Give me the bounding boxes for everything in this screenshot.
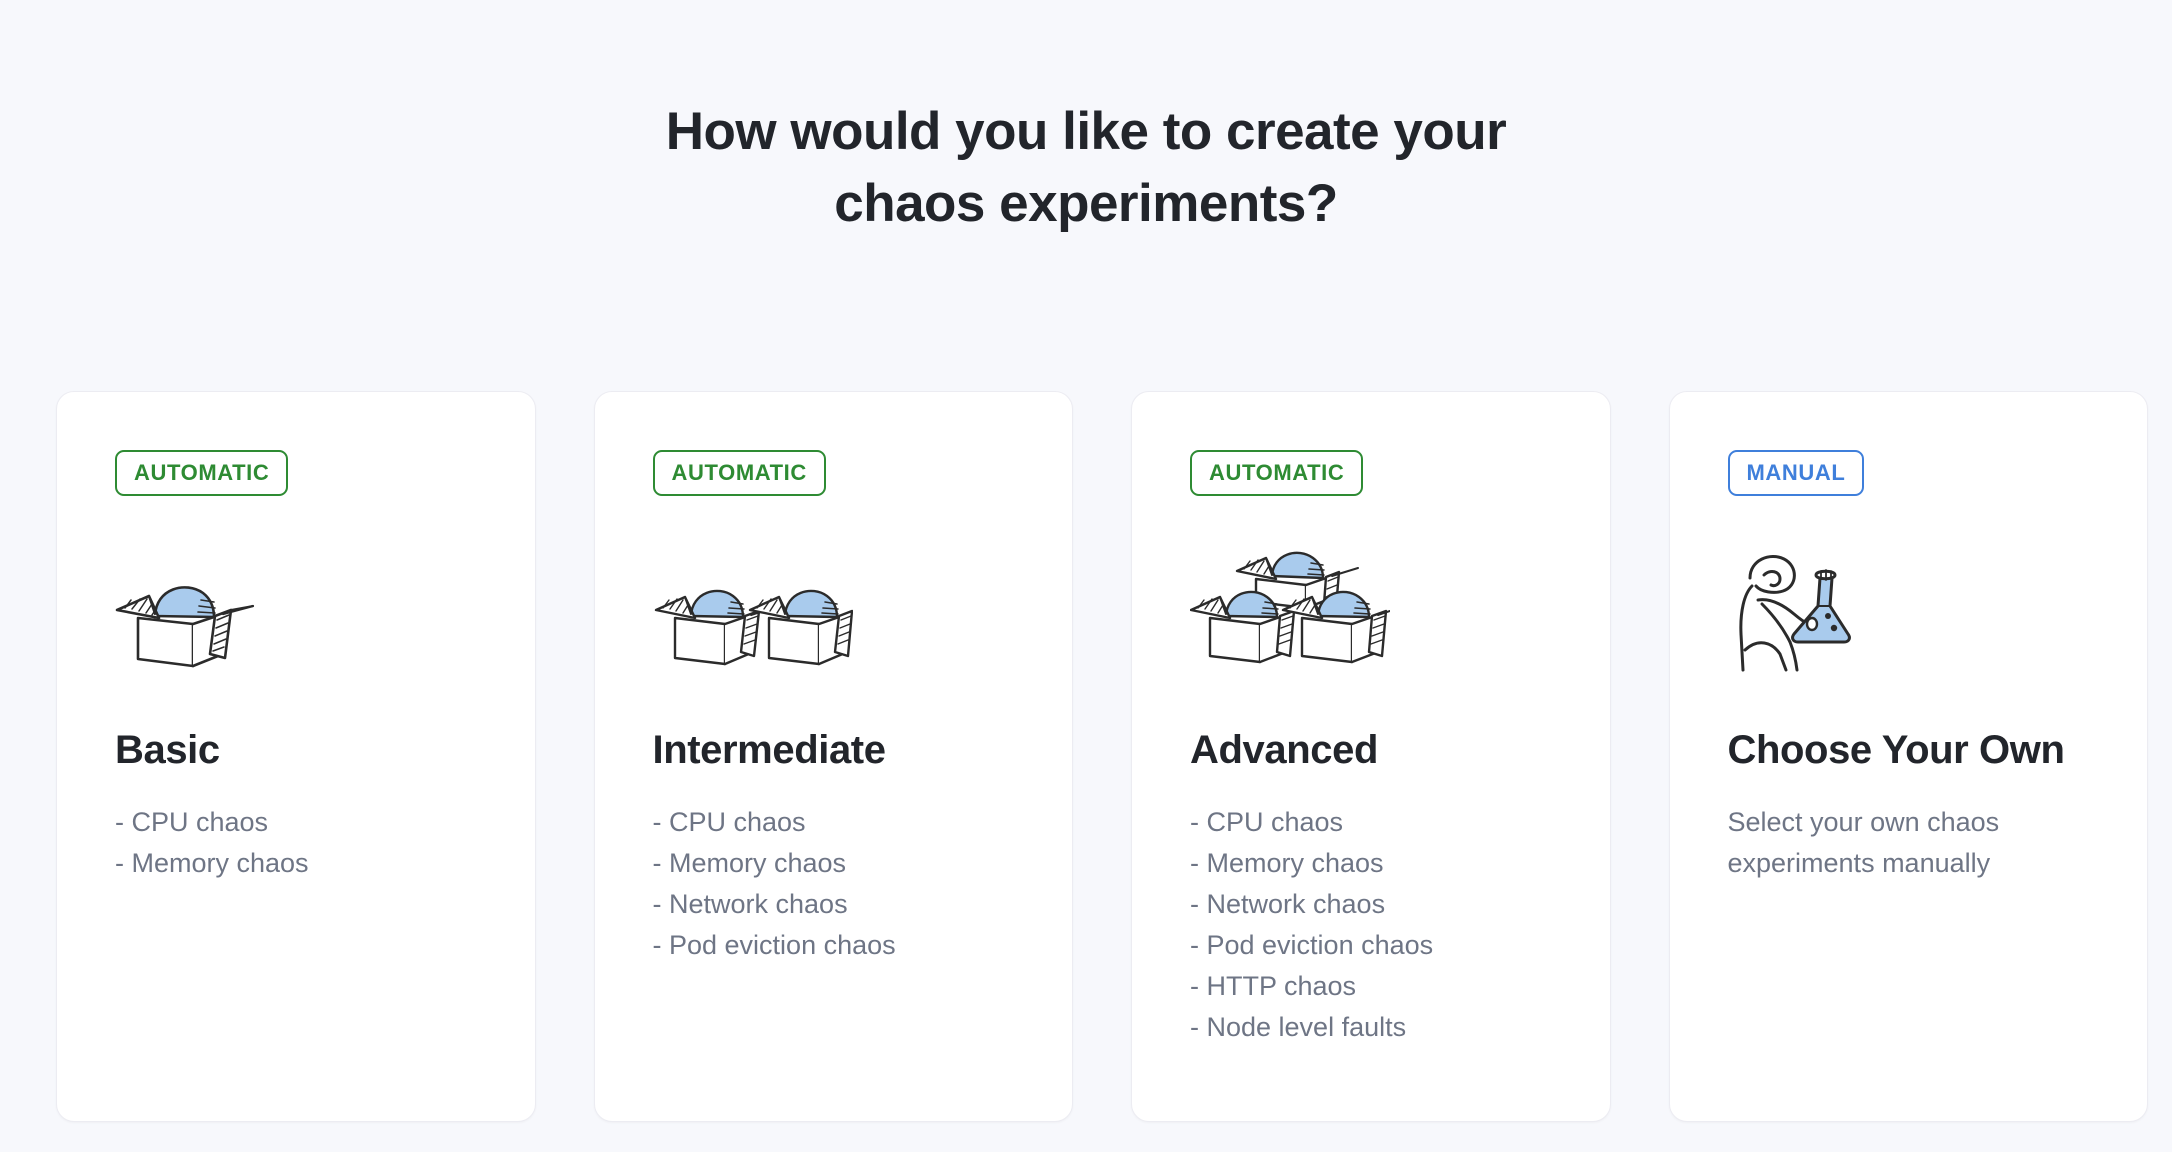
- person-with-flask-icon: [1728, 540, 2090, 672]
- card-list-intermediate: - CPU chaos - Memory chaos - Network cha…: [653, 802, 1015, 966]
- card-title-basic: Basic: [115, 728, 477, 772]
- experiment-option-cards: AUTOMATIC: [56, 391, 2148, 1122]
- card-title-choose-your-own: Choose Your Own: [1728, 728, 2090, 772]
- badge-automatic: AUTOMATIC: [653, 450, 826, 496]
- badge-automatic: AUTOMATIC: [1190, 450, 1363, 496]
- page-title: How would you like to create your chaos …: [0, 96, 2172, 239]
- list-item: - Node level faults: [1190, 1007, 1552, 1048]
- list-item: - Network chaos: [1190, 884, 1552, 925]
- list-item: - Network chaos: [653, 884, 1015, 925]
- list-item: - CPU chaos: [115, 802, 477, 843]
- card-intermediate[interactable]: AUTOMATIC: [594, 391, 1074, 1122]
- card-list-basic: - CPU chaos - Memory chaos: [115, 802, 477, 884]
- list-item: - Memory chaos: [653, 843, 1015, 884]
- card-advanced[interactable]: AUTOMATIC: [1131, 391, 1611, 1122]
- one-box-icon: [115, 540, 477, 672]
- page-title-line-1: How would you like to create your: [0, 96, 2172, 168]
- page-title-line-2: chaos experiments?: [0, 168, 2172, 240]
- card-list-advanced: - CPU chaos - Memory chaos - Network cha…: [1190, 802, 1552, 1048]
- card-title-intermediate: Intermediate: [653, 728, 1015, 772]
- card-choose-your-own[interactable]: MANUAL: [1669, 391, 2149, 1122]
- badge-automatic: AUTOMATIC: [115, 450, 288, 496]
- three-boxes-icon: [1190, 540, 1552, 672]
- list-item: - Pod eviction chaos: [1190, 925, 1552, 966]
- two-boxes-icon: [653, 540, 1015, 672]
- create-chaos-experiments-page: How would you like to create your chaos …: [0, 0, 2172, 1152]
- list-item: - Memory chaos: [115, 843, 477, 884]
- list-item: - Memory chaos: [1190, 843, 1552, 884]
- list-item: - HTTP chaos: [1190, 966, 1552, 1007]
- card-basic[interactable]: AUTOMATIC: [56, 391, 536, 1122]
- list-item: - CPU chaos: [1190, 802, 1552, 843]
- list-item: - CPU chaos: [653, 802, 1015, 843]
- list-item: - Pod eviction chaos: [653, 925, 1015, 966]
- card-description: Select your own chaos experiments manual…: [1728, 802, 2038, 884]
- badge-manual: MANUAL: [1728, 450, 1865, 496]
- card-title-advanced: Advanced: [1190, 728, 1552, 772]
